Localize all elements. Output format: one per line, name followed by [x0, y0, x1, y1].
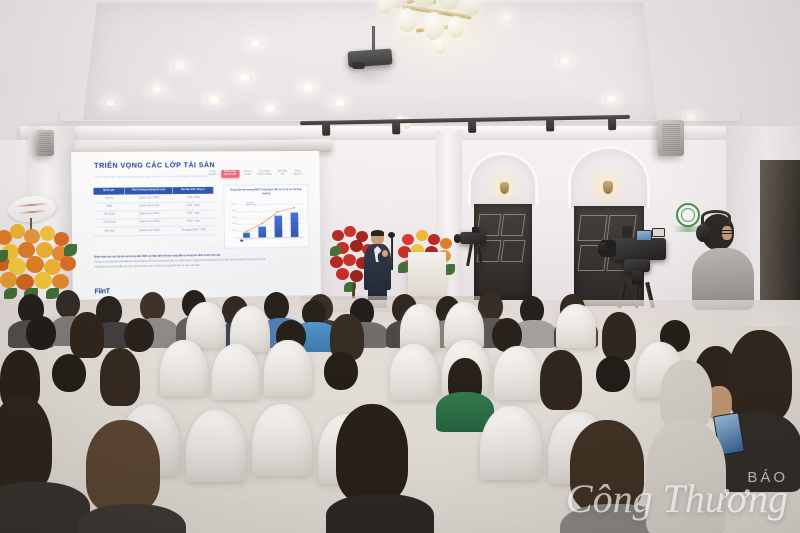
chart-plot-area: 10,000 8,000 6,000 4,000 2,000 0 2021 20… — [237, 204, 304, 238]
table-cell: 2024 – giảm — [173, 202, 214, 210]
downlight — [236, 74, 253, 81]
slide-tab-bonds[interactable]: Trái phiếu doanh nghiệp — [256, 170, 273, 178]
table-cell: Quanh mức 3.45% — [125, 219, 173, 227]
chair — [480, 406, 542, 480]
slide-chart: Dòng tiền thị trường BĐS Trung Quốc đầu … — [223, 184, 309, 249]
table-cell: Quanh mức 5.50% — [125, 194, 173, 202]
video-camera-center — [452, 226, 496, 270]
chart-x-label: 2022 — [261, 238, 265, 240]
table-cell: 2024 – tăng — [173, 194, 214, 202]
slide-body-text: Điểm nhấn của các lớp tài sản trong năm … — [94, 253, 300, 271]
wall-speaker-left — [36, 130, 54, 156]
y-tick: 8,000 — [232, 210, 236, 212]
conference-hall-screenshot: TRIỂN VỌNG CÁC LỚP TÀI SẢN Triển vọng cá… — [0, 0, 800, 533]
headphone-band — [701, 210, 731, 224]
slide-tab-realestate[interactable]: Bất động sản — [276, 170, 288, 178]
table-cell: Quanh mức 0.10% — [125, 202, 173, 210]
camera-monitor — [636, 230, 652, 241]
table-cell: 2024 – giảm — [173, 218, 214, 226]
legend-label: Giá trị đầu tư — [244, 240, 253, 241]
slide-tab-gold-fx[interactable]: Vàng, ngoại tệ — [292, 170, 303, 177]
wall-sconce — [596, 176, 618, 200]
table-cell: 2024 – giảm — [173, 210, 214, 218]
slide-tab-stocks[interactable]: Chứng khoán — [242, 170, 252, 178]
chart-title: Dòng tiền thị trường BĐS Trung Quốc đầu … — [229, 188, 303, 195]
slide-table: Quốc gia Định hướng trưởng lãi suất Dự b… — [93, 187, 214, 236]
table-row: Việt Nam Quanh mức 4.50% Đi ngang 2024 –… — [94, 227, 214, 237]
table-cell: Việt Nam — [94, 228, 126, 236]
downlight — [150, 86, 164, 92]
table-cell: Đi ngang 2024 – 2025 — [174, 227, 215, 235]
y-tick: 10,000 — [231, 203, 236, 205]
chart-trend-line — [237, 204, 304, 238]
chart-legend: Giá trị đầu tư — [240, 240, 253, 242]
y-tick: 4,000 — [232, 223, 236, 225]
projector-ceiling-plate — [344, 66, 394, 86]
microphone-head-icon — [388, 232, 395, 238]
operator-glasses-icon — [720, 230, 733, 234]
downlight — [172, 62, 188, 69]
table-cell: Quanh mức 4.50% — [125, 227, 173, 235]
downlight — [248, 40, 263, 46]
audience-foreground-center — [330, 404, 434, 533]
slide-tab-bar: Vĩ mô thế giới Triển vọng lớp tài sản Ch… — [207, 169, 303, 178]
wall-sconce — [494, 178, 514, 200]
chandelier — [376, 0, 496, 66]
slide-tab-asset-outlook[interactable]: Triển vọng lớp tài sản — [221, 169, 239, 178]
wall-speaker-right — [658, 120, 684, 156]
projector-mount-rod — [372, 26, 375, 52]
projector-lens — [352, 62, 365, 69]
presenter-hand — [382, 250, 388, 257]
audience-foreground-center-left — [78, 420, 188, 533]
headphones-icon — [696, 224, 710, 242]
chart-annotation: Dòng tiền tăng trưởng — [246, 202, 255, 207]
presenter-hair — [371, 230, 384, 236]
table-cell: Hoa Kỳ — [93, 195, 125, 203]
table-cell: Hàn Quốc — [94, 211, 126, 219]
table-cell: Nhật — [94, 203, 126, 211]
slide-subtitle: Triển vọng các lớp tài sản trong bối cản… — [94, 174, 208, 179]
chart-x-label: 2024F — [292, 237, 297, 239]
downlight — [104, 100, 118, 106]
slide-tab-vimo[interactable]: Vĩ mô thế giới — [207, 170, 218, 178]
microphone-stand — [391, 236, 393, 270]
chart-x-label: 2023 — [277, 237, 281, 239]
chair — [186, 410, 246, 482]
downlight — [206, 96, 222, 103]
slide-title: TRIỂN VỌNG CÁC LỚP TÀI SẢN — [94, 160, 215, 170]
y-tick: 6,000 — [232, 217, 236, 219]
table-cell: Quanh mức 3.50% — [125, 211, 173, 219]
table-cell: Trung Quốc — [94, 219, 126, 227]
downlight — [604, 96, 619, 102]
congratulation-card — [7, 194, 57, 224]
downlight — [332, 100, 347, 106]
legend-swatch — [240, 240, 243, 242]
audience-foreground-far-right — [646, 360, 726, 533]
downlight — [300, 84, 316, 91]
audience-member-green-jacket — [436, 358, 494, 428]
downlight — [558, 58, 573, 64]
y-tick: 2,000 — [232, 230, 236, 232]
